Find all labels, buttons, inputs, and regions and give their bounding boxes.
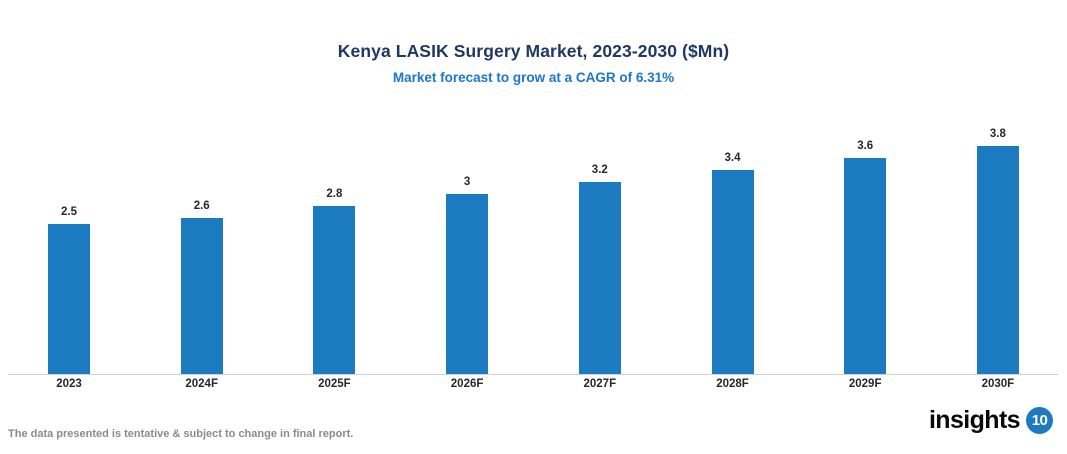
bar-value-label: 3.6	[820, 140, 910, 152]
category-label: 2023	[19, 378, 119, 390]
category-label: 2027F	[550, 378, 650, 390]
bar-value-label: 3.2	[555, 164, 645, 176]
bar-value-label: 3	[422, 176, 512, 188]
bar	[844, 158, 886, 374]
bar-value-label: 3.4	[688, 152, 778, 164]
plot-area: 2.52.62.833.23.43.63.8	[0, 110, 1067, 375]
logo-wordmark: insights	[929, 406, 1020, 434]
chart-subtitle: Market forecast to grow at a CAGR of 6.3…	[0, 68, 1067, 88]
disclaimer-text: The data presented is tentative & subjec…	[8, 428, 353, 440]
bar	[446, 194, 488, 374]
logo-badge-icon: 10	[1026, 407, 1053, 434]
category-label: 2028F	[683, 378, 783, 390]
bar-value-label: 2.5	[24, 206, 114, 218]
bar	[313, 206, 355, 374]
category-label: 2029F	[815, 378, 915, 390]
bar-value-label: 3.8	[953, 128, 1043, 140]
chart-canvas: Kenya LASIK Surgery Market, 2023-2030 ($…	[0, 0, 1067, 454]
bars-layer: 2.52.62.833.23.43.63.8	[0, 110, 1067, 374]
bar-value-label: 2.6	[157, 200, 247, 212]
chart-title: Kenya LASIK Surgery Market, 2023-2030 ($…	[0, 40, 1067, 62]
category-axis-labels: 20232024F2025F2026F2027F2028F2029F2030F	[0, 378, 1067, 400]
bar	[579, 182, 621, 374]
bar	[712, 170, 754, 374]
bar	[48, 224, 90, 374]
category-label: 2030F	[948, 378, 1048, 390]
category-label: 2024F	[152, 378, 252, 390]
insights10-logo: insights 10	[929, 406, 1053, 434]
bar-value-label: 2.8	[289, 188, 379, 200]
category-label: 2025F	[284, 378, 384, 390]
category-label: 2026F	[417, 378, 517, 390]
chart-header: Kenya LASIK Surgery Market, 2023-2030 ($…	[0, 40, 1067, 88]
x-axis-line	[8, 374, 1058, 375]
bar	[977, 146, 1019, 374]
bar	[181, 218, 223, 374]
